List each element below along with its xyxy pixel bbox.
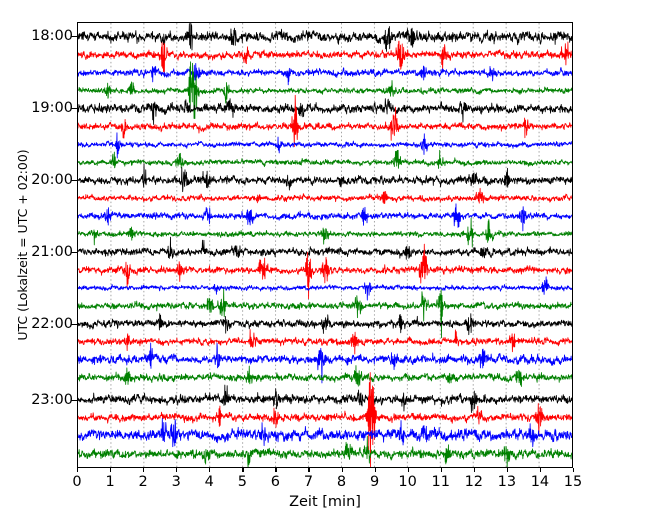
trace-19-15 xyxy=(78,95,572,146)
x-tick-mark xyxy=(408,468,409,472)
trace-23-30 xyxy=(78,418,572,446)
trace-20-45 xyxy=(78,218,572,247)
x-tick-mark xyxy=(441,468,442,472)
x-axis-label: Zeit [min] xyxy=(77,494,573,510)
x-tick-mark xyxy=(573,468,574,472)
trace-22-45 xyxy=(78,366,572,387)
x-tick-mark xyxy=(77,468,78,472)
trace-23-45 xyxy=(78,436,572,467)
trace-20-15 xyxy=(78,188,572,203)
trace-19-00 xyxy=(78,99,572,125)
x-tick-mark xyxy=(507,468,508,472)
x-tick-label-15: 15 xyxy=(553,474,593,490)
x-tick-mark xyxy=(375,468,376,472)
y-tick-mark xyxy=(71,36,77,37)
x-tick-mark xyxy=(474,468,475,472)
y-tick-mark xyxy=(71,252,77,253)
seismogram-figure: 18:0019:0020:0021:0022:0023:00 UTC (Loka… xyxy=(0,0,650,520)
trace-21-45 xyxy=(78,289,572,338)
y-axis-label: UTC (Lokalzeit = UTC + 02:00) xyxy=(14,22,32,468)
x-tick-mark xyxy=(540,468,541,472)
x-tick-mark xyxy=(275,468,276,472)
trace-21-00 xyxy=(78,237,572,259)
trace-18-30 xyxy=(78,63,572,84)
seismic-traces xyxy=(78,23,572,467)
x-tick-mark xyxy=(242,468,243,472)
x-tick-mark xyxy=(308,468,309,472)
trace-19-45 xyxy=(78,150,572,168)
y-tick-mark xyxy=(71,108,77,109)
plot-area xyxy=(77,22,573,468)
trace-22-00 xyxy=(78,314,572,335)
trace-20-30 xyxy=(78,204,572,231)
x-tick-mark xyxy=(110,468,111,472)
x-tick-mark xyxy=(209,468,210,472)
x-tick-mark xyxy=(176,468,177,472)
y-tick-mark xyxy=(71,180,77,181)
x-tick-mark xyxy=(342,468,343,472)
trace-18-00 xyxy=(78,23,572,52)
trace-23-00 xyxy=(78,385,572,413)
x-tick-mark xyxy=(143,468,144,472)
y-tick-mark xyxy=(71,400,77,401)
trace-20-00 xyxy=(78,164,572,192)
trace-19-30 xyxy=(78,133,572,158)
y-tick-mark xyxy=(71,324,77,325)
